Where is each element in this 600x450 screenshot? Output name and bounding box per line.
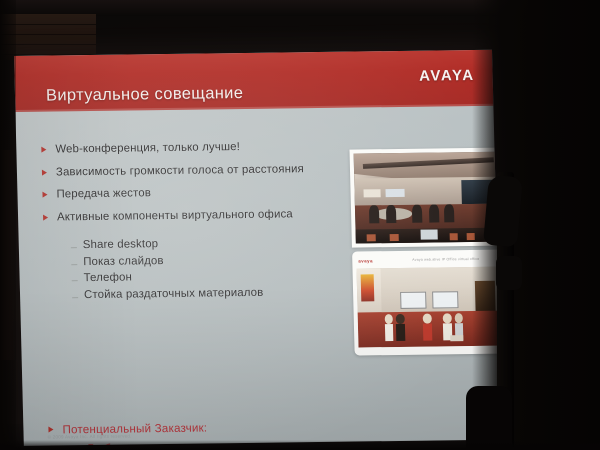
- list-item-label: Стойка раздаточных материалов: [84, 286, 264, 300]
- triangle-bullet-icon: [42, 169, 47, 175]
- list-item: Зависимость громкости голоса от расстоян…: [39, 162, 349, 178]
- triangle-bullet-icon: [43, 214, 48, 220]
- triangle-bullet-icon: [41, 147, 46, 153]
- equipment-knob-silhouette: [496, 256, 522, 290]
- list-item: Web-конференция, только лучше!: [38, 140, 348, 156]
- projection-screen: Виртуальное совещание AVAYA Web-конферен…: [14, 50, 502, 446]
- slide-body: Web-конференция, только лучше! Зависимос…: [15, 106, 501, 446]
- list-item-label: Показ слайдов: [83, 255, 164, 268]
- feature-bullet-list: Web-конференция, только лучше! Зависимос…: [38, 140, 350, 234]
- list-item-label: Телефон: [83, 271, 132, 284]
- dash-bullet-icon: [71, 247, 77, 248]
- presentation-slide: Виртуальное совещание AVAYA Web-конферен…: [14, 50, 502, 446]
- dash-bullet-icon: [71, 264, 77, 265]
- list-item: Показ слайдов: [71, 252, 351, 268]
- list-item: Share desktop: [71, 236, 351, 252]
- dash-bullet-icon: [72, 280, 78, 281]
- avaya-logo-small: avaya: [358, 258, 373, 263]
- list-item-label: Активные компоненты виртуального офиса: [57, 208, 293, 223]
- dash-bullet-icon: [72, 297, 78, 298]
- list-item-label: Web-конференция, только лучше!: [55, 141, 240, 155]
- list-item: Передача жестов: [39, 185, 349, 201]
- list-item: Активные компоненты виртуального офиса: [40, 207, 350, 223]
- slide-title-bar: Виртуальное совещание AVAYA: [14, 50, 493, 112]
- page-title: Виртуальное совещание: [46, 84, 244, 106]
- list-item-label: Передача жестов: [56, 187, 151, 200]
- avaya-logo: AVAYA: [419, 67, 475, 85]
- screenshot-caption: Avaya web.alive IP Office virtual office: [412, 257, 479, 262]
- left-edge-shadow: [0, 0, 16, 450]
- list-item: Телефон: [71, 269, 351, 285]
- triangle-bullet-icon: [48, 426, 53, 432]
- bottom-edge-shadow: [0, 440, 600, 450]
- list-item: Стойка раздаточных материалов: [72, 285, 352, 301]
- triangle-bullet-icon: [42, 192, 47, 198]
- list-item-label: Share desktop: [83, 238, 159, 251]
- head-silhouette: [483, 175, 523, 248]
- component-sub-list: Share desktop Показ слайдов Телефон Стой…: [71, 236, 353, 306]
- list-item-label: Зависимость громкости голоса от расстоян…: [56, 163, 304, 178]
